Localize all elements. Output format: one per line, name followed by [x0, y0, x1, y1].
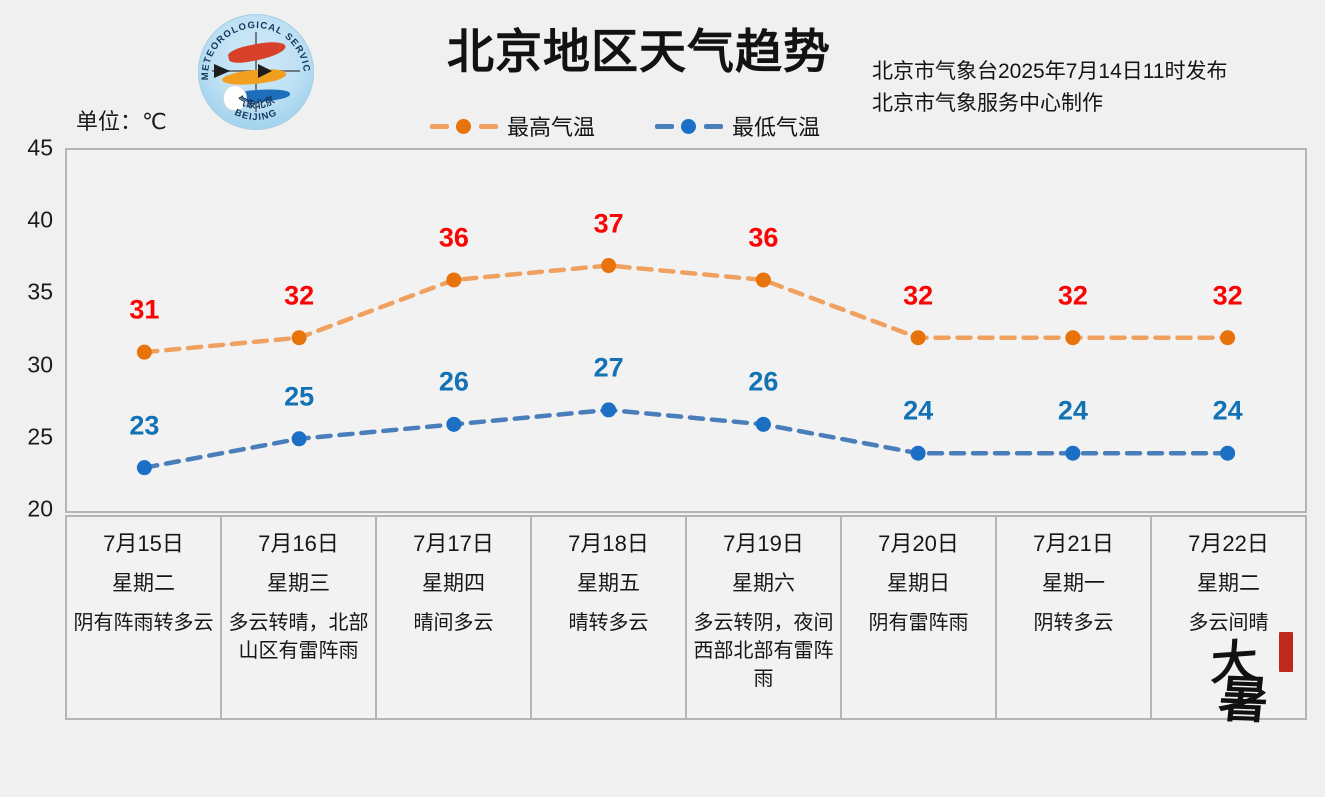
- forecast-column-5[interactable]: 7月19日星期六多云转阴，夜间西部北部有雷阵雨: [687, 517, 842, 718]
- data-label-high-3: 37: [594, 208, 624, 239]
- forecast-description: 多云间晴: [1158, 609, 1299, 637]
- data-label-high-2: 36: [439, 222, 469, 253]
- page-title: 北京地区天气趋势: [404, 22, 874, 82]
- data-point-marker[interactable]: [601, 402, 616, 417]
- forecast-description: 晴转多云: [538, 609, 679, 637]
- data-label-high-7: 32: [1213, 280, 1243, 311]
- data-point-marker[interactable]: [292, 330, 307, 345]
- forecast-description: 阴有阵雨转多云: [73, 609, 214, 637]
- forecast-date: 7月20日: [848, 529, 989, 559]
- data-label-high-4: 36: [748, 222, 778, 253]
- forecast-weekday: 星期三: [228, 569, 369, 599]
- y-axis-tick-45: 45: [27, 135, 53, 162]
- forecast-column-8[interactable]: 7月22日星期二多云间晴大暑: [1152, 517, 1305, 718]
- data-label-low-2: 26: [439, 367, 469, 398]
- data-point-marker[interactable]: [1220, 446, 1235, 461]
- forecast-table: 7月15日星期二阴有阵雨转多云7月16日星期三多云转晴，北部山区有雷阵雨7月17…: [65, 515, 1307, 720]
- data-label-low-6: 24: [1058, 396, 1088, 427]
- data-point-marker[interactable]: [1220, 330, 1235, 345]
- y-axis-tick-35: 35: [27, 279, 53, 306]
- y-axis-tick-40: 40: [27, 207, 53, 234]
- legend-dash-left: [655, 124, 674, 129]
- data-label-low-4: 26: [748, 367, 778, 398]
- data-label-high-0: 31: [129, 295, 159, 326]
- data-label-low-0: 23: [129, 410, 159, 441]
- data-label-low-1: 25: [284, 381, 314, 412]
- beijing-meteorological-service-logo: METEOROLOGICAL SERVICE BEIJING 气象北京: [198, 14, 314, 130]
- chart-plot-area: [67, 150, 1305, 511]
- forecast-date: 7月15日: [73, 529, 214, 559]
- forecast-column-3[interactable]: 7月17日星期四晴间多云: [377, 517, 532, 718]
- data-point-marker[interactable]: [137, 345, 152, 360]
- data-point-marker[interactable]: [1065, 330, 1080, 345]
- forecast-weekday: 星期四: [383, 569, 524, 599]
- forecast-column-4[interactable]: 7月18日星期五晴转多云: [532, 517, 687, 718]
- y-axis-labels: 202530354045: [0, 0, 65, 520]
- forecast-description: 晴间多云: [383, 609, 524, 637]
- forecast-description: 多云转阴，夜间西部北部有雷阵雨: [693, 609, 834, 693]
- forecast-description: 阴转多云: [1003, 609, 1144, 637]
- data-label-low-3: 27: [594, 352, 624, 383]
- seal-red-stamp-icon: [1279, 632, 1293, 672]
- forecast-column-7[interactable]: 7月21日星期一阴转多云: [997, 517, 1152, 718]
- data-point-marker[interactable]: [446, 272, 461, 287]
- forecast-weekday: 星期五: [538, 569, 679, 599]
- page-header: METEOROLOGICAL SERVICE BEIJING 气象北京 北京地区…: [0, 0, 1325, 148]
- data-label-high-6: 32: [1058, 280, 1088, 311]
- forecast-column-6[interactable]: 7月20日星期日阴有雷阵雨: [842, 517, 997, 718]
- legend-label-high-temp: 最高气温: [507, 110, 595, 142]
- data-point-marker[interactable]: [292, 431, 307, 446]
- dashed-line-marker-icon-high: [430, 117, 498, 135]
- forecast-date: 7月21日: [1003, 529, 1144, 559]
- legend-label-low-temp: 最低气温: [732, 110, 820, 142]
- data-label-high-5: 32: [903, 280, 933, 311]
- data-point-marker[interactable]: [911, 446, 926, 461]
- solar-term-seal-dashu: 大暑: [1197, 626, 1301, 716]
- logo-arc-text: METEOROLOGICAL SERVICE BEIJING 气象北京: [198, 14, 314, 130]
- forecast-column-1[interactable]: 7月15日星期二阴有阵雨转多云: [67, 517, 222, 718]
- issuer-line-1: 北京市气象台2025年7月14日11时发布: [872, 56, 1228, 88]
- data-point-marker[interactable]: [756, 417, 771, 432]
- temperature-line-chart: [65, 148, 1307, 513]
- legend-item-high-temp[interactable]: 最高气温: [430, 110, 595, 142]
- legend-marker-dot: [456, 119, 471, 134]
- y-axis-tick-30: 30: [27, 351, 53, 378]
- forecast-date: 7月18日: [538, 529, 679, 559]
- legend-item-low-temp[interactable]: 最低气温: [655, 110, 820, 142]
- forecast-weekday: 星期二: [1158, 569, 1299, 599]
- issuer-info: 北京市气象台2025年7月14日11时发布 北京市气象服务中心制作: [872, 56, 1228, 120]
- forecast-column-2[interactable]: 7月16日星期三多云转晴，北部山区有雷阵雨: [222, 517, 377, 718]
- legend-dash-right: [704, 124, 723, 129]
- chart-legend: 最高气温 最低气温: [430, 110, 820, 142]
- data-label-low-7: 24: [1213, 396, 1243, 427]
- data-point-marker[interactable]: [446, 417, 461, 432]
- logo-arc-text-en: METEOROLOGICAL SERVICE: [198, 14, 312, 80]
- legend-dash-right: [479, 124, 498, 129]
- legend-dash-left: [430, 124, 449, 129]
- seal-char-2: 暑: [1215, 659, 1272, 733]
- forecast-date: 7月22日: [1158, 529, 1299, 559]
- forecast-description: 阴有雷阵雨: [848, 609, 989, 637]
- forecast-date: 7月19日: [693, 529, 834, 559]
- data-label-high-1: 32: [284, 280, 314, 311]
- forecast-weekday: 星期日: [848, 569, 989, 599]
- issuer-line-2: 北京市气象服务中心制作: [872, 88, 1228, 120]
- data-point-marker[interactable]: [137, 460, 152, 475]
- data-point-marker[interactable]: [1065, 446, 1080, 461]
- forecast-weekday: 星期二: [73, 569, 214, 599]
- y-axis-tick-25: 25: [27, 423, 53, 450]
- forecast-date: 7月16日: [228, 529, 369, 559]
- data-label-low-5: 24: [903, 396, 933, 427]
- forecast-weekday: 星期一: [1003, 569, 1144, 599]
- data-point-marker[interactable]: [601, 258, 616, 273]
- forecast-date: 7月17日: [383, 529, 524, 559]
- data-point-marker[interactable]: [756, 272, 771, 287]
- logo-arc-text-beijing: BEIJING: [233, 107, 279, 123]
- forecast-weekday: 星期六: [693, 569, 834, 599]
- data-point-marker[interactable]: [911, 330, 926, 345]
- unit-label: 单位：℃: [76, 104, 167, 136]
- legend-marker-dot: [681, 119, 696, 134]
- dashed-line-marker-icon-low: [655, 117, 723, 135]
- y-axis-tick-20: 20: [27, 496, 53, 523]
- forecast-description: 多云转晴，北部山区有雷阵雨: [228, 609, 369, 665]
